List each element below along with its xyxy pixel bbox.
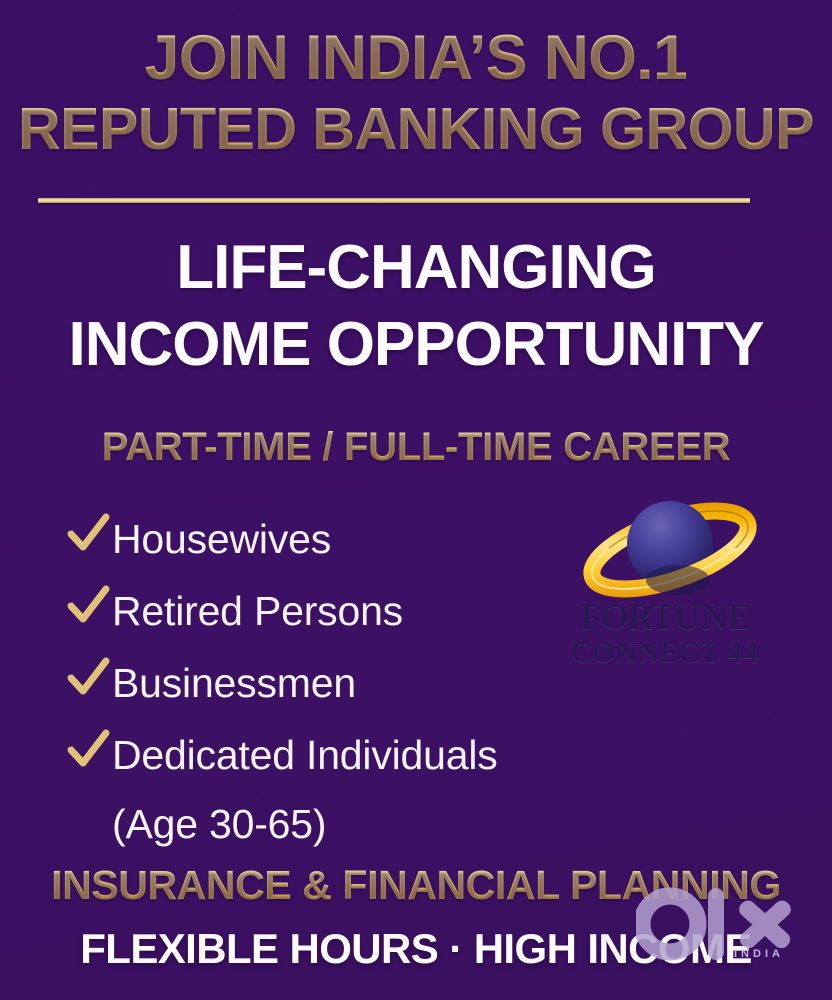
check-icon [66, 579, 112, 631]
audience-age-note: (Age 30-65) [112, 793, 626, 855]
headline-line-1: JOIN INDIA’S NO.1 [4, 22, 828, 94]
list-item: Businessmen [66, 649, 626, 717]
list-item-label: Businessmen [112, 649, 356, 717]
list-item-label: Retired Persons [112, 577, 403, 645]
list-item-label: Housewives [112, 505, 331, 573]
list-item-label: Dedicated Individuals [112, 721, 498, 789]
check-icon [66, 723, 112, 775]
brand-name: FORTUNE CONNECT 44 [556, 598, 776, 670]
job-advertisement-poster: JOIN INDIA’S NO.1 REPUTED BANKING GROUP … [0, 0, 832, 1000]
brand-name-line-2: CONNECT 44 [556, 636, 776, 670]
main-heading-block: LIFE-CHANGING INCOME OPPORTUNITY [0, 230, 832, 384]
footer-benefits-text: FLEXIBLE HOURS · HIGH INCOME [0, 925, 832, 973]
subheading-text: PART-TIME / FULL-TIME CAREER [0, 425, 832, 470]
headline-block: JOIN INDIA’S NO.1 REPUTED BANKING GROUP [0, 22, 832, 164]
main-heading-line-1: LIFE-CHANGING [0, 230, 832, 306]
list-item: Housewives [66, 505, 626, 573]
saturn-planet-icon [570, 492, 770, 604]
check-icon [66, 507, 112, 559]
check-icon [66, 651, 112, 703]
headline-line-2: REPUTED BANKING GROUP [0, 94, 832, 164]
audience-list: Housewives Retired Persons Businessmen [66, 505, 626, 855]
brand-name-line-1: FORTUNE [556, 598, 776, 636]
footer-services-text: INSURANCE & FINANCIAL PLANNING [0, 862, 832, 909]
main-heading-line-2: INCOME OPPORTUNITY [0, 306, 832, 384]
list-item: Dedicated Individuals [66, 721, 626, 789]
brand-logo: FORTUNE CONNECT 44 [556, 492, 776, 677]
gold-divider-rule [38, 198, 750, 203]
list-item: Retired Persons [66, 577, 626, 645]
